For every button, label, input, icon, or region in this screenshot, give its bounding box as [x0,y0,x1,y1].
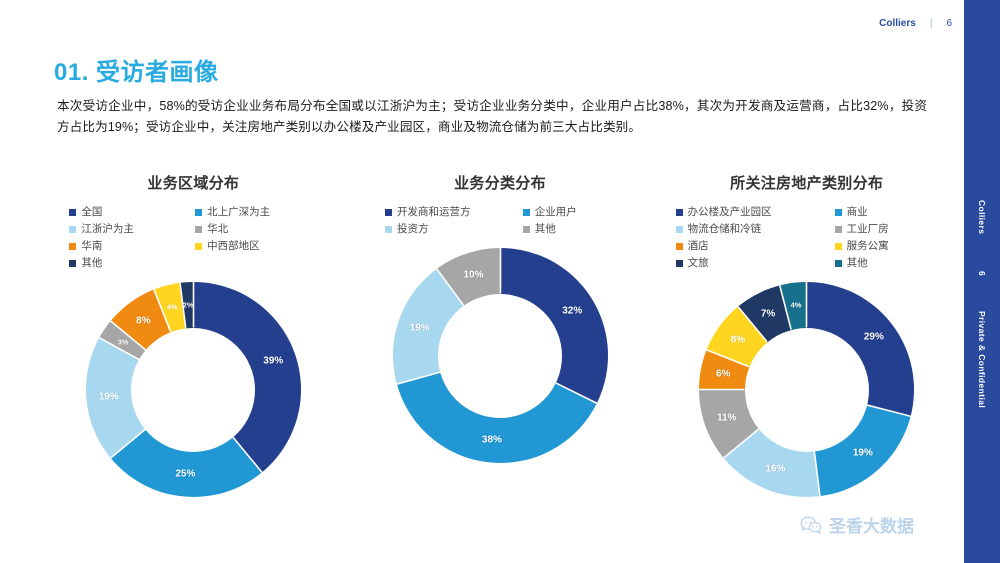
sidebar-brand: Colliers [964,188,1000,246]
legend-item: 其他 [835,256,938,270]
legend-swatch [195,243,202,250]
summary-paragraph: 本次受访企业中，58%的受访企业业务布局分布全国或以江浙沪为主；受访企业业务分类… [57,96,927,138]
legend-item: 其他 [69,256,181,270]
donut-chart: 29%19%16%11%6%8%7%4% [699,282,914,497]
chart-title: 业务分类分布 [454,172,546,193]
slice-label: 2% [183,300,194,309]
slice-label: 16% [765,463,785,474]
legend-item: 其他 [523,222,615,236]
slice-label: 19% [99,392,119,403]
slice-label: 25% [175,469,195,480]
legend-label: 酒店 [688,239,709,253]
legend-label: 服务公寓 [847,239,889,253]
legend-swatch [835,260,842,267]
chart-business-category: 业务分类分布 开发商和运营方 企业用户 投资方 其他 32%38%19%10% [347,172,654,532]
legend-swatch [835,243,842,250]
legend-swatch [69,209,76,216]
legend-swatch [676,226,683,233]
legend-item: 物流仓储和冷链 [676,222,821,236]
slice-label: 39% [263,355,283,366]
donut-ring [86,282,301,497]
slice-label: 11% [717,413,736,424]
legend-label: 其他 [81,256,102,270]
legend-label: 中西部地区 [207,239,260,253]
sidebar-confidential: Private & Confidential [964,300,1000,420]
slice-label: 8% [731,334,745,345]
legend-swatch [676,209,683,216]
legend-label: 华南 [81,239,102,253]
legend-label: 其他 [535,222,556,236]
slide-page: Colliers | 6 01. 受访者画像 本次受访企业中，58%的受访企业业… [0,0,1000,563]
legend-item: 服务公寓 [835,239,938,253]
slice-label: 4% [791,301,802,310]
donut-hole [438,294,562,418]
sidebar-page-number: 6 [964,264,1000,284]
legend-item: 全国 [69,205,181,219]
slice-label: 32% [562,305,582,316]
header-divider: | [930,18,933,29]
legend-item: 北上广深为主 [195,205,317,219]
legend-swatch [385,209,392,216]
donut-chart: 32%38%19%10% [393,248,608,463]
legend-item: 工业厂房 [835,222,938,236]
chart-legend: 全国 北上广深为主 江浙沪为主 华北 华南 中西部地区 其他 [69,205,317,270]
page-title: 01. 受访者画像 [54,52,219,87]
legend-item: 开发商和运营方 [385,205,509,219]
donut-hole [745,328,869,452]
legend-label: 企业用户 [535,205,577,219]
header-brand: Colliers [879,18,916,29]
chart-legend: 开发商和运营方 企业用户 投资方 其他 [385,205,615,236]
donut-ring [699,282,914,497]
slice-label: 38% [482,435,502,446]
chart-property-type: 所关注房地产类别分布 办公楼及产业园区 商业 物流仓储和冷链 工业厂房 酒店 服… [653,172,960,532]
legend-item: 江浙沪为主 [69,222,181,236]
legend-label: 华北 [207,222,228,236]
legend-swatch [69,226,76,233]
legend-swatch [835,226,842,233]
slice-label: 19% [410,322,430,333]
legend-item: 商业 [835,205,938,219]
slice-label: 6% [716,368,730,379]
chart-business-region: 业务区域分布 全国 北上广深为主 江浙沪为主 华北 华南 中西部地区 其他 39… [40,172,347,532]
right-sidebar: Colliers 6 Private & Confidential [964,0,1000,563]
legend-label: 文旅 [688,256,709,270]
legend-swatch [676,243,683,250]
slice-label: 7% [761,308,775,319]
legend-swatch [69,243,76,250]
legend-item: 企业用户 [523,205,615,219]
legend-swatch [676,260,683,267]
legend-label: 其他 [847,256,868,270]
legend-item: 文旅 [676,256,821,270]
slice-label: 4% [167,303,178,312]
watermark-text: 圣香大数据 [829,512,914,537]
legend-label: 北上广深为主 [207,205,270,219]
legend-label: 商业 [847,205,868,219]
legend-item: 华北 [195,222,317,236]
legend-item: 酒店 [676,239,821,253]
legend-swatch [69,260,76,267]
slice-label: 19% [853,448,873,459]
chart-legend: 办公楼及产业园区 商业 物流仓储和冷链 工业厂房 酒店 服务公寓 文旅 其他 [676,205,938,270]
legend-label: 开发商和运营方 [397,205,471,219]
chart-title: 业务区域分布 [147,172,239,193]
header: Colliers | 6 [879,18,952,29]
slice-label: 10% [463,269,483,280]
slice-label: 3% [118,337,129,346]
watermark: 圣香大数据 [800,512,914,537]
wechat-icon [800,516,822,534]
legend-swatch [195,209,202,216]
chart-title: 所关注房地产类别分布 [730,172,883,193]
legend-label: 工业厂房 [847,222,889,236]
legend-swatch [195,226,202,233]
legend-item: 办公楼及产业园区 [676,205,821,219]
legend-item: 华南 [69,239,181,253]
legend-swatch [523,209,530,216]
legend-item: 投资方 [385,222,509,236]
legend-swatch [835,209,842,216]
slice-label: 29% [864,332,884,343]
donut-ring [393,248,608,463]
legend-swatch [523,226,530,233]
legend-item: 中西部地区 [195,239,317,253]
legend-swatch [385,226,392,233]
legend-label: 江浙沪为主 [81,222,134,236]
donut-hole [131,328,255,452]
legend-label: 投资方 [397,222,429,236]
legend-label: 办公楼及产业园区 [688,205,772,219]
legend-label: 全国 [81,205,102,219]
charts-row: 业务区域分布 全国 北上广深为主 江浙沪为主 华北 华南 中西部地区 其他 39… [40,172,960,532]
header-page-number: 6 [946,18,952,29]
slice-label: 8% [136,315,150,326]
donut-chart: 39%25%19%3%8%4%2% [86,282,301,497]
legend-label: 物流仓储和冷链 [688,222,762,236]
